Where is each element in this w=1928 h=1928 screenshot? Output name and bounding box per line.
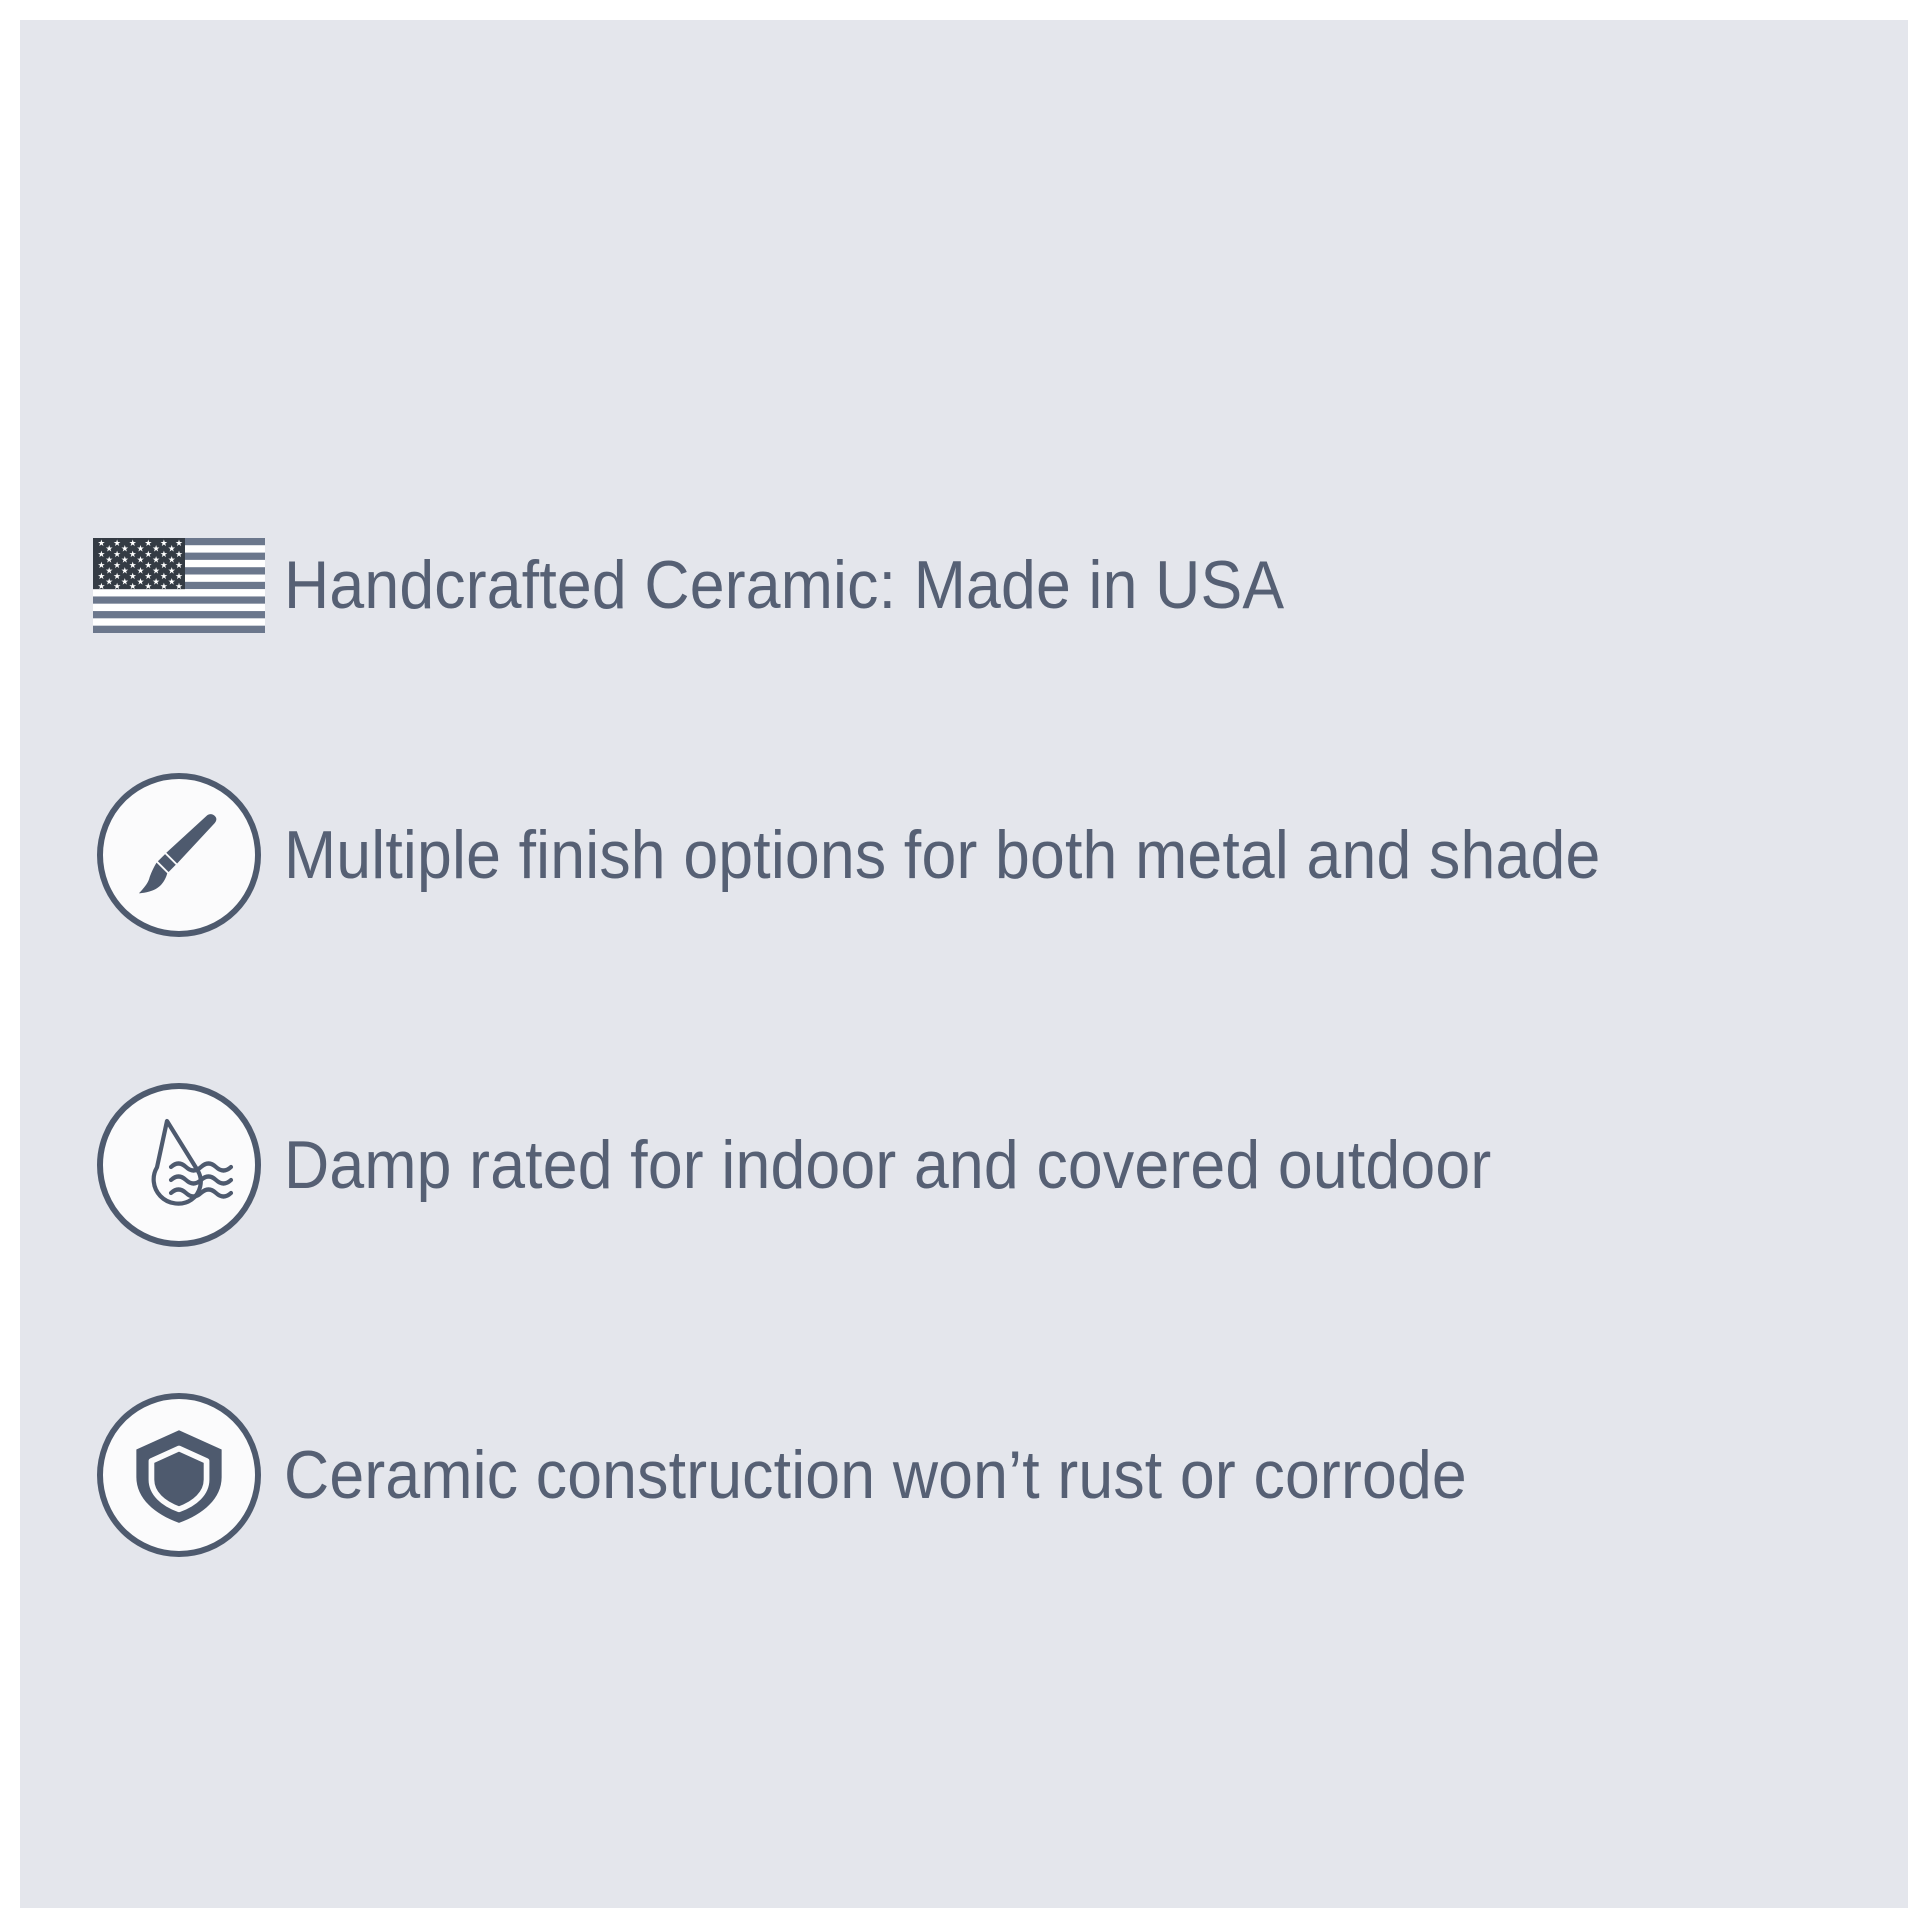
feature-icon-slot	[88, 495, 270, 675]
icon-circle-frame	[97, 773, 261, 937]
paintbrush-icon	[127, 803, 231, 907]
feature-text: Damp rated for indoor and covered outdoo…	[284, 1131, 1491, 1199]
feature-icon-slot	[88, 765, 270, 945]
feature-list: Handcrafted Ceramic: Made in USA Multipl…	[20, 20, 1908, 1908]
water-droplet-waves-icon	[123, 1109, 235, 1221]
feature-text: Multiple finish options for both metal a…	[284, 821, 1600, 889]
feature-icon-slot	[88, 1385, 270, 1565]
usa-flag-icon	[93, 538, 265, 633]
feature-text: Ceramic construction won’t rust or corro…	[284, 1441, 1467, 1509]
feature-panel: Handcrafted Ceramic: Made in USA Multipl…	[20, 20, 1908, 1908]
feature-row: Damp rated for indoor and covered outdoo…	[88, 1075, 1596, 1255]
icon-circle-frame	[97, 1393, 261, 1557]
feature-row: Multiple finish options for both metal a…	[88, 765, 1715, 945]
feature-row: Ceramic construction won’t rust or corro…	[88, 1385, 1570, 1565]
feature-text: Handcrafted Ceramic: Made in USA	[284, 551, 1284, 619]
feature-icon-slot	[88, 1075, 270, 1255]
icon-circle-frame	[97, 1083, 261, 1247]
shield-icon	[127, 1423, 231, 1527]
feature-row: Handcrafted Ceramic: Made in USA	[88, 495, 1371, 675]
